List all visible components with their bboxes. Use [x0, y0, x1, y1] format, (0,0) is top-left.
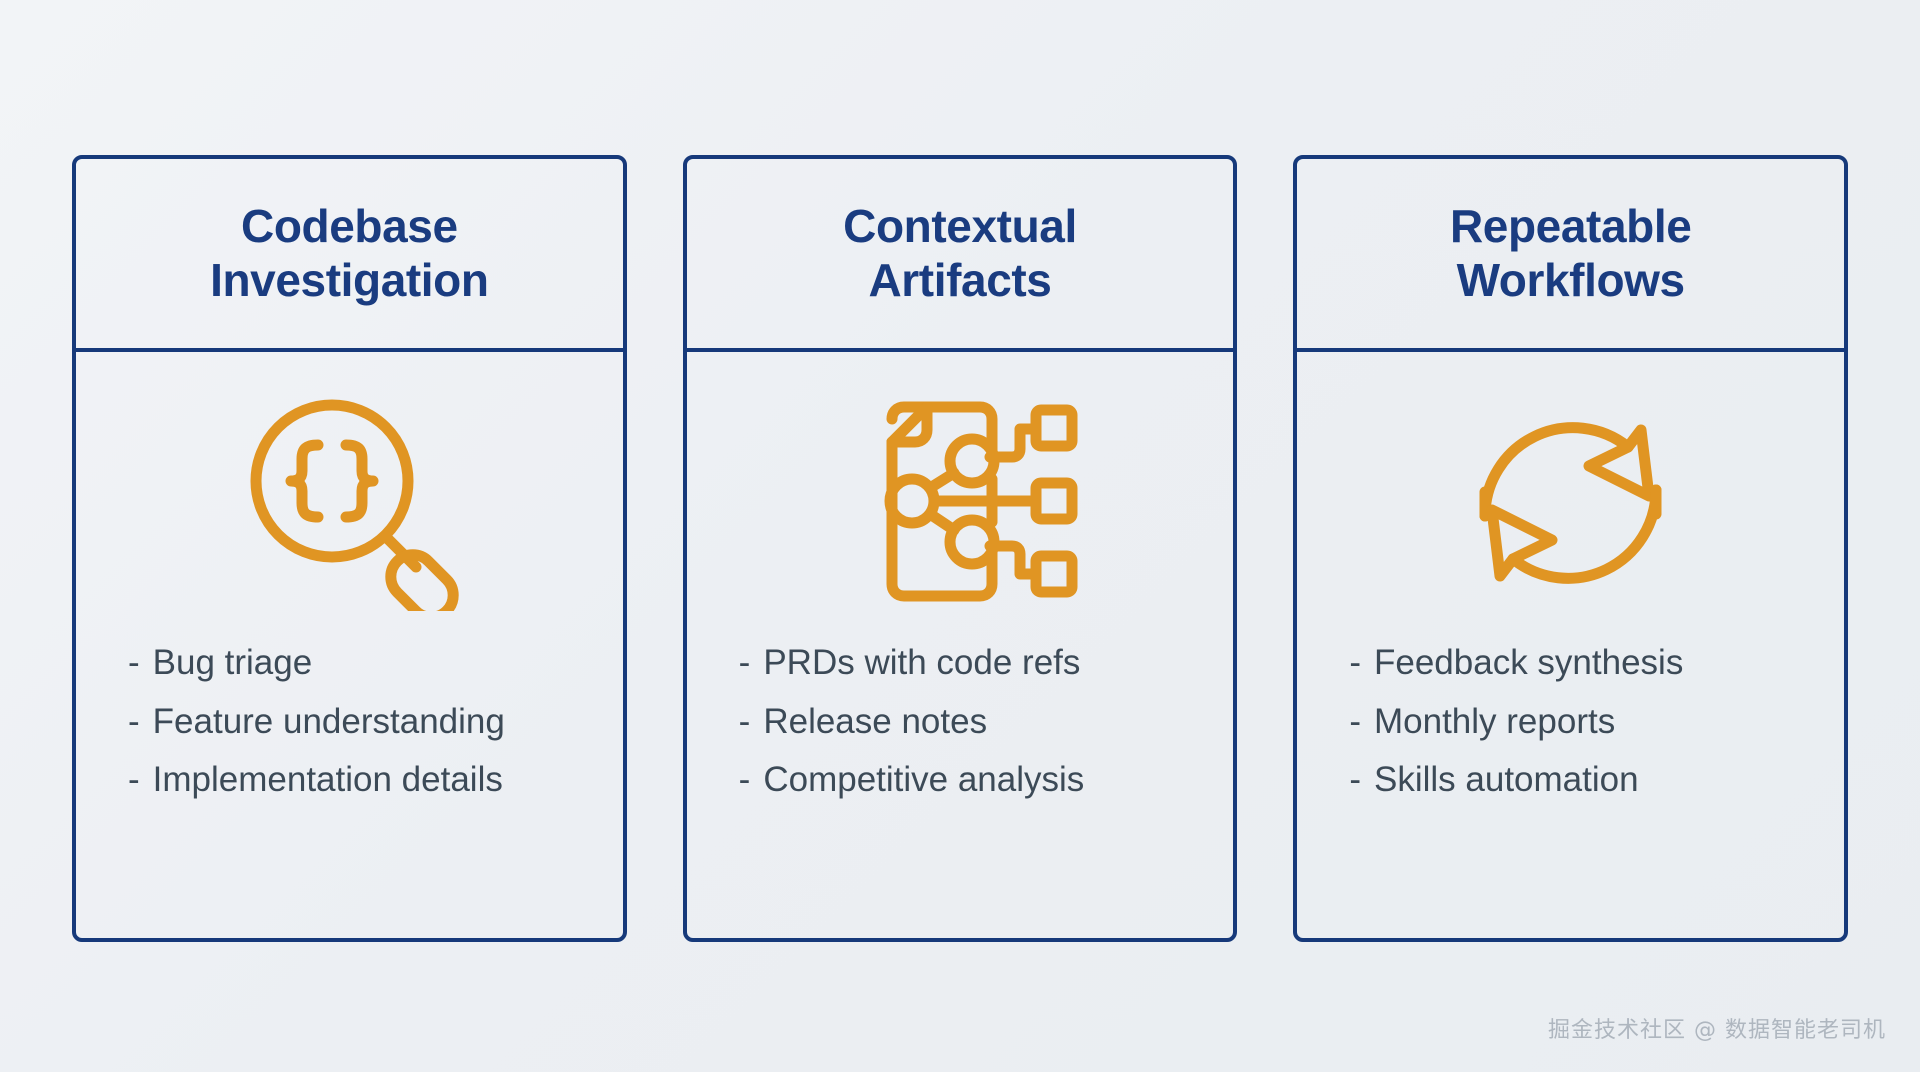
- bullet-dash: -: [739, 701, 751, 744]
- card-row: Codebase Investigation - Bug triage: [72, 155, 1848, 942]
- card-header: Contextual Artifacts: [687, 159, 1234, 352]
- three-card-board: Codebase Investigation - Bug triage: [0, 0, 1920, 1072]
- list-item: - Release notes: [739, 701, 1214, 744]
- bullet-dash: -: [739, 759, 751, 802]
- card-header: Codebase Investigation: [76, 159, 623, 352]
- card-body: - PRDs with code refs - Release notes - …: [687, 352, 1234, 938]
- bullet-text: Competitive analysis: [763, 759, 1084, 802]
- card-title: Codebase Investigation: [210, 200, 489, 308]
- bullet-dash: -: [128, 701, 140, 744]
- magnifier-code-braces-icon: [219, 386, 479, 616]
- card-codebase-investigation[interactable]: Codebase Investigation - Bug triage: [72, 155, 627, 942]
- list-item: - PRDs with code refs: [739, 642, 1214, 685]
- bullet-dash: -: [1349, 701, 1361, 744]
- bullet-text: Monthly reports: [1374, 701, 1615, 744]
- bullet-list: - PRDs with code refs - Release notes - …: [687, 642, 1234, 802]
- bullet-dash: -: [1349, 642, 1361, 685]
- list-item: - Feedback synthesis: [1349, 642, 1824, 685]
- list-item: - Skills automation: [1349, 759, 1824, 802]
- list-item: - Competitive analysis: [739, 759, 1214, 802]
- card-title: Contextual Artifacts: [843, 200, 1077, 308]
- bullet-text: Release notes: [763, 701, 987, 744]
- card-header: Repeatable Workflows: [1297, 159, 1844, 352]
- list-item: - Implementation details: [128, 759, 603, 802]
- bullet-text: Feature understanding: [153, 701, 505, 744]
- bullet-text: Feedback synthesis: [1374, 642, 1683, 685]
- bullet-list: - Feedback synthesis - Monthly reports -…: [1297, 642, 1844, 802]
- bullet-text: Skills automation: [1374, 759, 1639, 802]
- bullet-dash: -: [128, 759, 140, 802]
- watermark: 掘金技术社区 @ 数据智能老司机: [1548, 1012, 1886, 1044]
- document-share-nodes-icon: [830, 386, 1090, 616]
- bullet-dash: -: [739, 642, 751, 685]
- bullet-dash: -: [128, 642, 140, 685]
- list-item: - Bug triage: [128, 642, 603, 685]
- bullet-dash: -: [1349, 759, 1361, 802]
- card-body: - Bug triage - Feature understanding - I…: [76, 352, 623, 938]
- list-item: - Monthly reports: [1349, 701, 1824, 744]
- card-body: - Feedback synthesis - Monthly reports -…: [1297, 352, 1844, 938]
- card-repeatable-workflows[interactable]: Repeatable Workflows: [1293, 155, 1848, 942]
- card-title: Repeatable Workflows: [1450, 200, 1691, 308]
- bullet-text: Bug triage: [153, 642, 313, 685]
- bullet-text: PRDs with code refs: [763, 642, 1080, 685]
- card-contextual-artifacts[interactable]: Contextual Artifacts: [683, 155, 1238, 942]
- bullet-text: Implementation details: [153, 759, 503, 802]
- list-item: - Feature understanding: [128, 701, 603, 744]
- bullet-list: - Bug triage - Feature understanding - I…: [76, 642, 623, 802]
- circular-refresh-arrows-icon: [1441, 386, 1701, 616]
